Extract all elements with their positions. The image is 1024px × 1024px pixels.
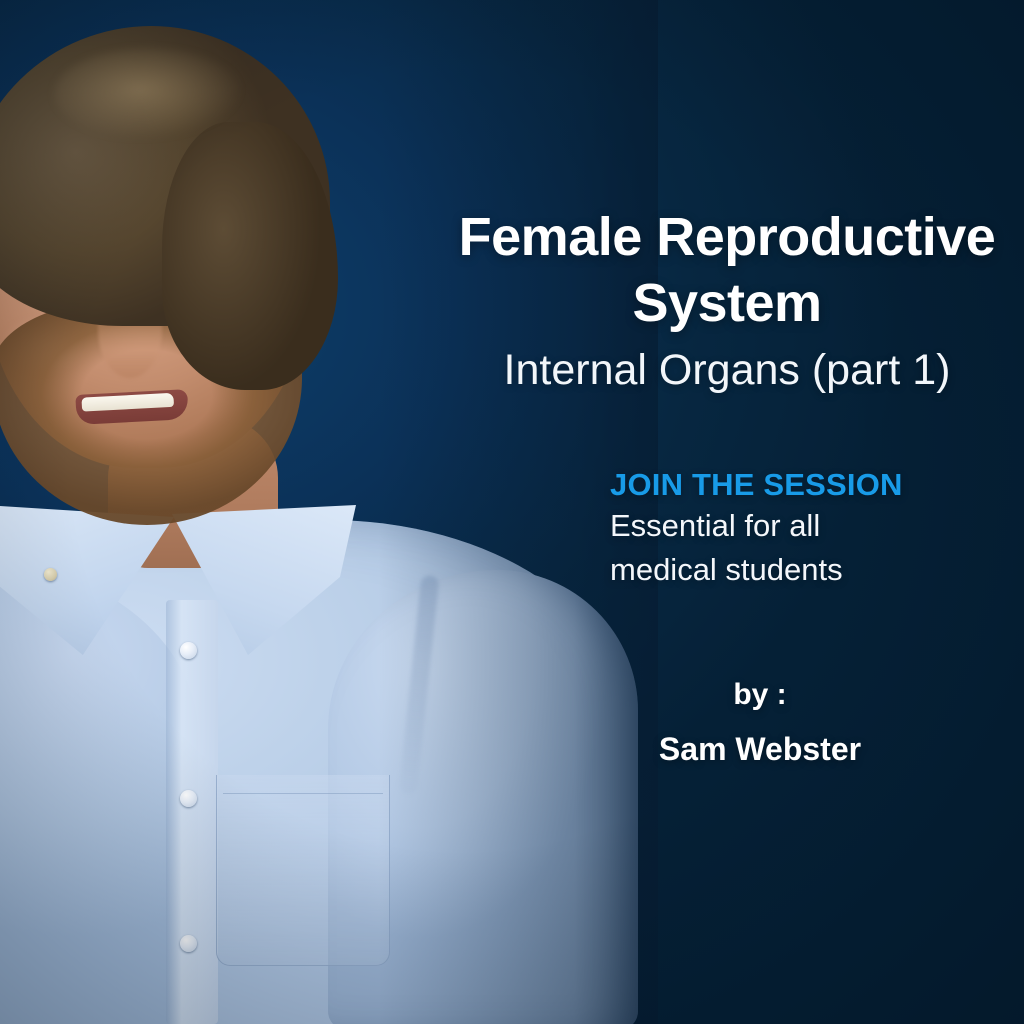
- headline-line-1: Female Reproductive: [459, 207, 996, 267]
- subheadline: Internal Organs (part 1): [430, 344, 1024, 396]
- headline-line-2: System: [430, 270, 1024, 336]
- byline-label: by :: [733, 678, 786, 711]
- presenter-name: Sam Webster: [560, 722, 960, 776]
- byline: by : Sam Webster: [560, 668, 960, 776]
- cta-title: JOIN THE SESSION: [610, 466, 1010, 504]
- headline: Female Reproductive System: [430, 204, 1024, 336]
- promo-poster: Female Reproductive System Internal Orga…: [0, 0, 1024, 1024]
- cta-line-2: medical students: [610, 548, 1010, 592]
- cta-line-1: Essential for all: [610, 504, 1010, 548]
- cta-block: JOIN THE SESSION Essential for all medic…: [610, 466, 1010, 592]
